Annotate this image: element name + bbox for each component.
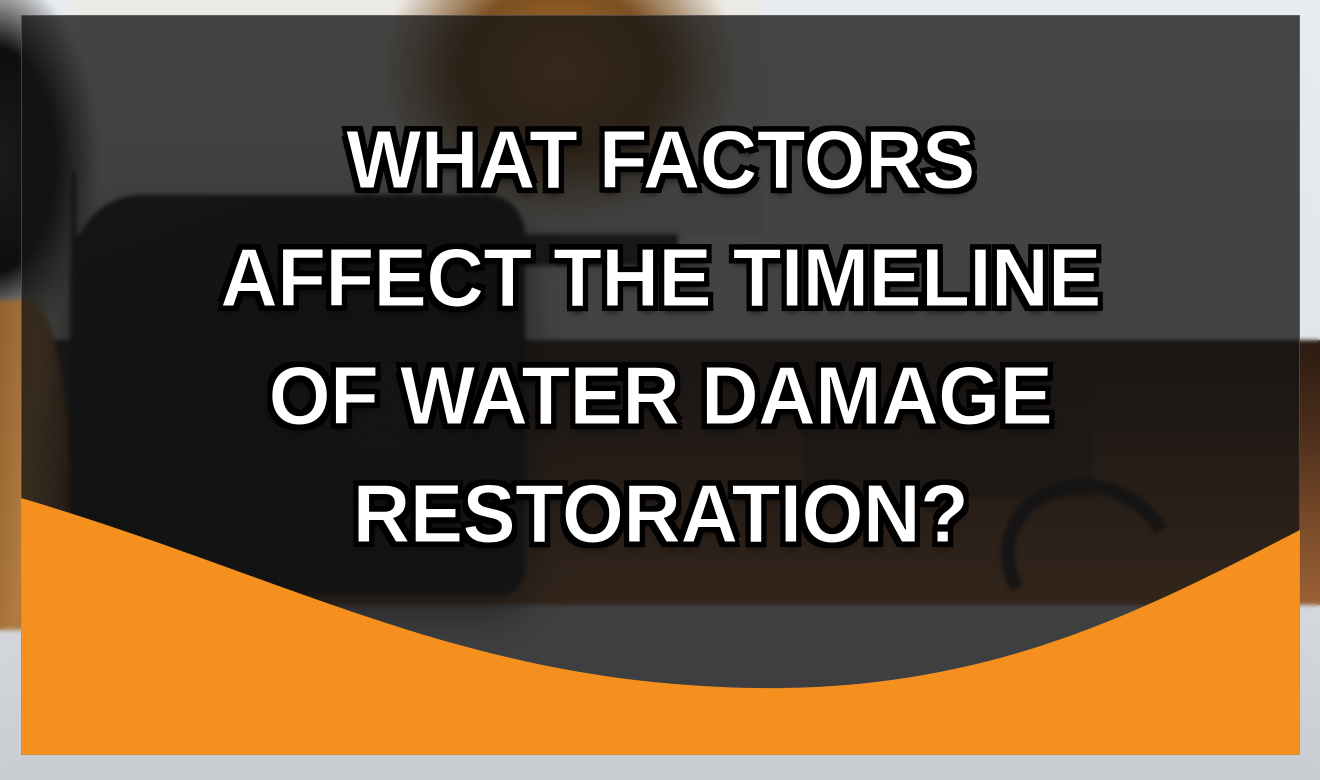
wave-svg [21,15,1300,755]
wave-decoration [21,15,1300,755]
dark-overlay-panel: WHAT FACTORS AFFECT THE TIMELINE OF WATE… [21,15,1300,755]
banner-canvas: WHAT FACTORS AFFECT THE TIMELINE OF WATE… [0,0,1320,780]
